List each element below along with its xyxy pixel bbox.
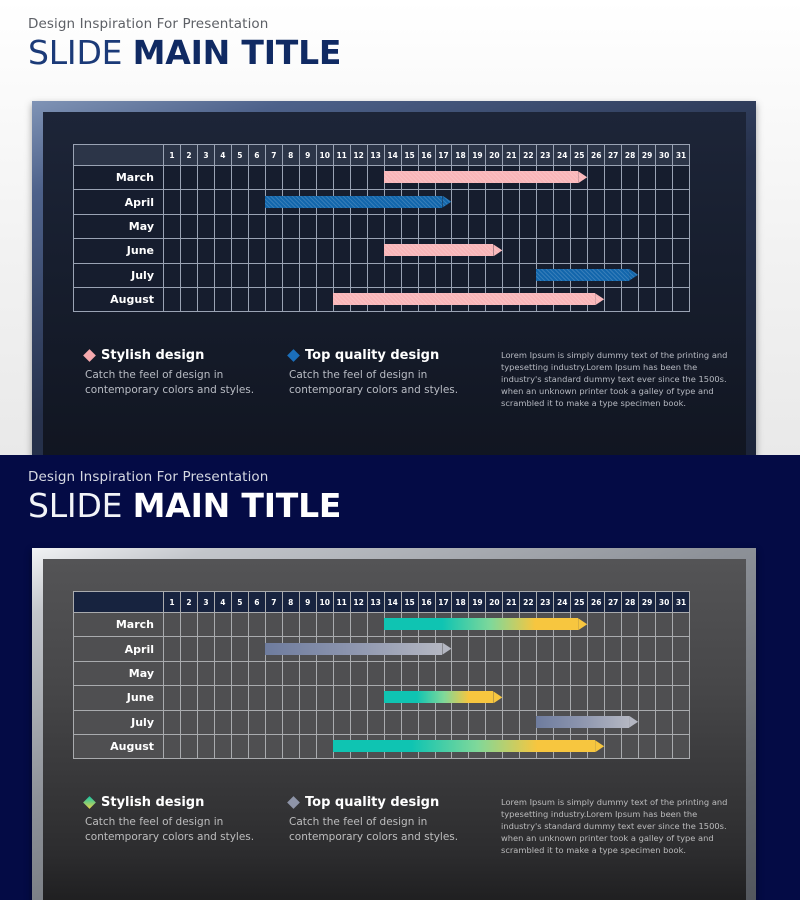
gantt-cell[interactable] — [418, 190, 435, 214]
gantt-cell[interactable] — [639, 637, 656, 661]
gantt-cell[interactable] — [554, 734, 571, 758]
gantt-cell[interactable] — [520, 710, 537, 734]
gantt-cell[interactable] — [299, 686, 316, 710]
gantt-cell[interactable] — [639, 239, 656, 263]
gantt-cell[interactable] — [350, 214, 367, 238]
gantt-cell[interactable] — [248, 166, 265, 190]
gantt-cell[interactable] — [265, 239, 282, 263]
gantt-cell[interactable] — [367, 263, 384, 287]
gantt-cell[interactable] — [418, 613, 435, 637]
gantt-cell[interactable] — [214, 287, 231, 311]
gantt-cell[interactable] — [282, 214, 299, 238]
gantt-cell[interactable] — [333, 734, 350, 758]
gantt-cell[interactable] — [180, 166, 197, 190]
gantt-cell[interactable] — [214, 239, 231, 263]
gantt-cell[interactable] — [197, 686, 214, 710]
gantt-cell[interactable] — [605, 263, 622, 287]
gantt-cell[interactable] — [639, 686, 656, 710]
gantt-cell[interactable] — [333, 214, 350, 238]
gantt-cell[interactable] — [197, 166, 214, 190]
gantt-cell[interactable] — [299, 613, 316, 637]
gantt-cell[interactable] — [333, 166, 350, 190]
gantt-cell[interactable] — [333, 661, 350, 685]
gantt-cell[interactable] — [452, 613, 469, 637]
gantt-cell[interactable] — [231, 287, 248, 311]
gantt-cell[interactable] — [316, 239, 333, 263]
gantt-cell[interactable] — [265, 190, 282, 214]
gantt-cell[interactable] — [656, 263, 673, 287]
gantt-cell[interactable] — [333, 190, 350, 214]
gantt-cell[interactable] — [486, 710, 503, 734]
gantt-cell[interactable] — [214, 613, 231, 637]
gantt-cell[interactable] — [231, 686, 248, 710]
gantt-cell[interactable] — [384, 661, 401, 685]
gantt-cell[interactable] — [435, 637, 452, 661]
gantt-cell[interactable] — [435, 239, 452, 263]
gantt-cell[interactable] — [164, 239, 181, 263]
gantt-cell[interactable] — [639, 661, 656, 685]
gantt-cell[interactable] — [520, 214, 537, 238]
gantt-cell[interactable] — [282, 190, 299, 214]
gantt-cell[interactable] — [333, 710, 350, 734]
gantt-cell[interactable] — [622, 263, 639, 287]
gantt-cell[interactable] — [350, 686, 367, 710]
gantt-cell[interactable] — [164, 637, 181, 661]
gantt-cell[interactable] — [367, 239, 384, 263]
gantt-cell[interactable] — [452, 263, 469, 287]
gantt-cell[interactable] — [537, 166, 554, 190]
gantt-cell[interactable] — [333, 613, 350, 637]
gantt-cell[interactable] — [673, 661, 690, 685]
gantt-cell[interactable] — [622, 734, 639, 758]
gantt-cell[interactable] — [605, 239, 622, 263]
gantt-cell[interactable] — [503, 166, 520, 190]
gantt-cell[interactable] — [537, 214, 554, 238]
gantt-cell[interactable] — [231, 239, 248, 263]
gantt-cell[interactable] — [384, 287, 401, 311]
gantt-cell[interactable] — [367, 661, 384, 685]
gantt-cell[interactable] — [164, 263, 181, 287]
gantt-cell[interactable] — [214, 734, 231, 758]
gantt-cell[interactable] — [350, 190, 367, 214]
gantt-cell[interactable] — [554, 637, 571, 661]
gantt-cell[interactable] — [350, 613, 367, 637]
gantt-cell[interactable] — [316, 613, 333, 637]
gantt-cell[interactable] — [418, 661, 435, 685]
gantt-cell[interactable] — [622, 287, 639, 311]
gantt-cell[interactable] — [180, 734, 197, 758]
gantt-cell[interactable] — [384, 190, 401, 214]
gantt-cell[interactable] — [571, 710, 588, 734]
gantt-cell[interactable] — [197, 239, 214, 263]
gantt-cell[interactable] — [503, 287, 520, 311]
gantt-cell[interactable] — [265, 166, 282, 190]
gantt-cell[interactable] — [537, 710, 554, 734]
gantt-cell[interactable] — [282, 287, 299, 311]
gantt-cell[interactable] — [588, 613, 605, 637]
gantt-cell[interactable] — [656, 214, 673, 238]
gantt-cell[interactable] — [503, 637, 520, 661]
gantt-cell[interactable] — [571, 686, 588, 710]
gantt-cell[interactable] — [231, 637, 248, 661]
gantt-cell[interactable] — [214, 166, 231, 190]
gantt-cell[interactable] — [588, 190, 605, 214]
feature-item-top-quality-design[interactable]: Top quality design Catch the feel of des… — [289, 348, 489, 398]
gantt-cell[interactable] — [452, 190, 469, 214]
gantt-cell[interactable] — [588, 166, 605, 190]
gantt-cell[interactable] — [401, 263, 418, 287]
gantt-cell[interactable] — [248, 214, 265, 238]
gantt-cell[interactable] — [486, 214, 503, 238]
gantt-cell[interactable] — [486, 263, 503, 287]
gantt-cell[interactable] — [469, 263, 486, 287]
gantt-cell[interactable] — [554, 166, 571, 190]
gantt-cell[interactable] — [282, 239, 299, 263]
gantt-cell[interactable] — [180, 190, 197, 214]
gantt-cell[interactable] — [486, 734, 503, 758]
gantt-cell[interactable] — [588, 637, 605, 661]
gantt-cell[interactable] — [639, 214, 656, 238]
gantt-cell[interactable] — [503, 710, 520, 734]
gantt-cell[interactable] — [231, 734, 248, 758]
gantt-cell[interactable] — [605, 734, 622, 758]
gantt-cell[interactable] — [333, 263, 350, 287]
feature-item-stylish-design[interactable]: Stylish design Catch the feel of design … — [85, 348, 285, 398]
gantt-cell[interactable] — [282, 637, 299, 661]
gantt-cell[interactable] — [537, 263, 554, 287]
gantt-cell[interactable] — [401, 734, 418, 758]
gantt-cell[interactable] — [180, 710, 197, 734]
gantt-cell[interactable] — [520, 734, 537, 758]
gantt-cell[interactable] — [164, 214, 181, 238]
gantt-cell[interactable] — [350, 734, 367, 758]
gantt-cell[interactable] — [418, 287, 435, 311]
gantt-cell[interactable] — [588, 287, 605, 311]
gantt-cell[interactable] — [316, 734, 333, 758]
gantt-cell[interactable] — [316, 686, 333, 710]
gantt-cell[interactable] — [197, 710, 214, 734]
gantt-cell[interactable] — [316, 166, 333, 190]
gantt-cell[interactable] — [656, 613, 673, 637]
gantt-cell[interactable] — [435, 710, 452, 734]
gantt-cell[interactable] — [197, 263, 214, 287]
gantt-cell[interactable] — [588, 214, 605, 238]
gantt-cell[interactable] — [214, 190, 231, 214]
gantt-cell[interactable] — [537, 239, 554, 263]
gantt-cell[interactable] — [299, 190, 316, 214]
gantt-cell[interactable] — [605, 661, 622, 685]
gantt-cell[interactable] — [248, 734, 265, 758]
gantt-cell[interactable] — [333, 686, 350, 710]
gantt-cell[interactable] — [673, 166, 690, 190]
gantt-cell[interactable] — [384, 686, 401, 710]
gantt-cell[interactable] — [469, 734, 486, 758]
gantt-cell[interactable] — [622, 214, 639, 238]
gantt-cell[interactable] — [435, 661, 452, 685]
gantt-cell[interactable] — [520, 637, 537, 661]
gantt-cell[interactable] — [571, 239, 588, 263]
gantt-cell[interactable] — [299, 637, 316, 661]
gantt-cell[interactable] — [503, 263, 520, 287]
gantt-cell[interactable] — [588, 661, 605, 685]
gantt-cell[interactable] — [197, 637, 214, 661]
gantt-cell[interactable] — [214, 637, 231, 661]
gantt-cell[interactable] — [622, 661, 639, 685]
gantt-cell[interactable] — [469, 190, 486, 214]
gantt-cell[interactable] — [486, 287, 503, 311]
gantt-cell[interactable] — [503, 239, 520, 263]
gantt-cell[interactable] — [435, 190, 452, 214]
gantt-cell[interactable] — [231, 661, 248, 685]
gantt-cell[interactable] — [537, 190, 554, 214]
gantt-cell[interactable] — [231, 263, 248, 287]
gantt-cell[interactable] — [656, 710, 673, 734]
gantt-cell[interactable] — [316, 190, 333, 214]
gantt-cell[interactable] — [605, 166, 622, 190]
gantt-cell[interactable] — [588, 239, 605, 263]
gantt-cell[interactable] — [282, 661, 299, 685]
gantt-cell[interactable] — [673, 686, 690, 710]
gantt-cell[interactable] — [180, 287, 197, 311]
gantt-cell[interactable] — [333, 239, 350, 263]
gantt-cell[interactable] — [418, 214, 435, 238]
gantt-cell[interactable] — [537, 637, 554, 661]
gantt-cell[interactable] — [520, 190, 537, 214]
gantt-cell[interactable] — [164, 686, 181, 710]
gantt-cell[interactable] — [248, 263, 265, 287]
gantt-cell[interactable] — [367, 710, 384, 734]
gantt-cell[interactable] — [656, 637, 673, 661]
gantt-cell[interactable] — [316, 710, 333, 734]
gantt-cell[interactable] — [384, 239, 401, 263]
gantt-cell[interactable] — [265, 661, 282, 685]
gantt-cell[interactable] — [367, 734, 384, 758]
gantt-cell[interactable] — [248, 287, 265, 311]
gantt-cell[interactable] — [367, 214, 384, 238]
gantt-cell[interactable] — [248, 686, 265, 710]
gantt-cell[interactable] — [214, 710, 231, 734]
gantt-cell[interactable] — [673, 287, 690, 311]
gantt-cell[interactable] — [350, 637, 367, 661]
gantt-cell[interactable] — [656, 661, 673, 685]
gantt-cell[interactable] — [299, 661, 316, 685]
gantt-cell[interactable] — [622, 710, 639, 734]
gantt-cell[interactable] — [316, 637, 333, 661]
gantt-cell[interactable] — [316, 661, 333, 685]
gantt-cell[interactable] — [537, 734, 554, 758]
gantt-cell[interactable] — [673, 214, 690, 238]
gantt-cell[interactable] — [639, 166, 656, 190]
gantt-cell[interactable] — [367, 166, 384, 190]
gantt-cell[interactable] — [231, 214, 248, 238]
gantt-cell[interactable] — [503, 661, 520, 685]
gantt-cell[interactable] — [469, 287, 486, 311]
gantt-cell[interactable] — [452, 166, 469, 190]
gantt-cell[interactable] — [537, 613, 554, 637]
feature-item-stylish-design[interactable]: Stylish design Catch the feel of design … — [85, 795, 285, 845]
gantt-cell[interactable] — [639, 263, 656, 287]
gantt-cell[interactable] — [401, 166, 418, 190]
gantt-cell[interactable] — [316, 263, 333, 287]
gantt-cell[interactable] — [639, 710, 656, 734]
gantt-cell[interactable] — [248, 190, 265, 214]
gantt-cell[interactable] — [164, 613, 181, 637]
gantt-cell[interactable] — [401, 190, 418, 214]
gantt-cell[interactable] — [299, 734, 316, 758]
gantt-cell[interactable] — [418, 263, 435, 287]
gantt-cell[interactable] — [469, 637, 486, 661]
gantt-cell[interactable] — [520, 613, 537, 637]
gantt-cell[interactable] — [384, 263, 401, 287]
gantt-cell[interactable] — [571, 166, 588, 190]
gantt-cell[interactable] — [605, 190, 622, 214]
gantt-cell[interactable] — [588, 734, 605, 758]
gantt-cell[interactable] — [197, 287, 214, 311]
gantt-cell[interactable] — [673, 734, 690, 758]
gantt-cell[interactable] — [299, 287, 316, 311]
gantt-cell[interactable] — [265, 214, 282, 238]
gantt-cell[interactable] — [503, 214, 520, 238]
gantt-cell[interactable] — [656, 734, 673, 758]
gantt-cell[interactable] — [639, 287, 656, 311]
gantt-cell[interactable] — [469, 661, 486, 685]
gantt-cell[interactable] — [214, 661, 231, 685]
gantt-cell[interactable] — [469, 214, 486, 238]
gantt-cell[interactable] — [435, 686, 452, 710]
gantt-cell[interactable] — [299, 263, 316, 287]
gantt-cell[interactable] — [299, 166, 316, 190]
gantt-cell[interactable] — [384, 710, 401, 734]
gantt-cell[interactable] — [639, 190, 656, 214]
gantt-cell[interactable] — [554, 239, 571, 263]
gantt-cell[interactable] — [571, 613, 588, 637]
gantt-cell[interactable] — [520, 287, 537, 311]
gantt-cell[interactable] — [164, 734, 181, 758]
gantt-cell[interactable] — [265, 734, 282, 758]
gantt-cell[interactable] — [588, 686, 605, 710]
gantt-cell[interactable] — [367, 287, 384, 311]
gantt-cell[interactable] — [673, 263, 690, 287]
gantt-cell[interactable] — [622, 613, 639, 637]
gantt-cell[interactable] — [673, 190, 690, 214]
gantt-cell[interactable] — [231, 710, 248, 734]
gantt-cell[interactable] — [571, 190, 588, 214]
gantt-cell[interactable] — [164, 166, 181, 190]
gantt-cell[interactable] — [164, 287, 181, 311]
gantt-cell[interactable] — [452, 239, 469, 263]
gantt-cell[interactable] — [503, 613, 520, 637]
gantt-cell[interactable] — [418, 710, 435, 734]
gantt-cell[interactable] — [180, 239, 197, 263]
gantt-cell[interactable] — [197, 734, 214, 758]
gantt-cell[interactable] — [231, 190, 248, 214]
gantt-cell[interactable] — [639, 613, 656, 637]
gantt-cell[interactable] — [554, 613, 571, 637]
gantt-cell[interactable] — [214, 263, 231, 287]
gantt-cell[interactable] — [265, 710, 282, 734]
gantt-cell[interactable] — [299, 710, 316, 734]
gantt-cell[interactable] — [486, 637, 503, 661]
gantt-cell[interactable] — [401, 239, 418, 263]
gantt-cell[interactable] — [350, 166, 367, 190]
gantt-cell[interactable] — [554, 190, 571, 214]
gantt-cell[interactable] — [520, 686, 537, 710]
gantt-cell[interactable] — [673, 613, 690, 637]
gantt-cell[interactable] — [656, 239, 673, 263]
gantt-cell[interactable] — [452, 637, 469, 661]
gantt-cell[interactable] — [571, 661, 588, 685]
gantt-cell[interactable] — [316, 214, 333, 238]
gantt-cell[interactable] — [384, 214, 401, 238]
gantt-cell[interactable] — [248, 661, 265, 685]
gantt-cell[interactable] — [248, 613, 265, 637]
gantt-cell[interactable] — [350, 661, 367, 685]
gantt-cell[interactable] — [299, 239, 316, 263]
gantt-cell[interactable] — [197, 190, 214, 214]
gantt-cell[interactable] — [639, 734, 656, 758]
gantt-cell[interactable] — [282, 613, 299, 637]
gantt-cell[interactable] — [571, 734, 588, 758]
gantt-cell[interactable] — [333, 287, 350, 311]
gantt-cell[interactable] — [265, 287, 282, 311]
gantt-cell[interactable] — [350, 263, 367, 287]
gantt-cell[interactable] — [401, 686, 418, 710]
gantt-cell[interactable] — [520, 661, 537, 685]
gantt-cell[interactable] — [265, 613, 282, 637]
gantt-cell[interactable] — [384, 637, 401, 661]
gantt-cell[interactable] — [435, 287, 452, 311]
gantt-cell[interactable] — [673, 239, 690, 263]
gantt-cell[interactable] — [622, 166, 639, 190]
gantt-cell[interactable] — [418, 637, 435, 661]
gantt-cell[interactable] — [554, 214, 571, 238]
gantt-cell[interactable] — [435, 166, 452, 190]
gantt-cell[interactable] — [265, 686, 282, 710]
gantt-cell[interactable] — [401, 661, 418, 685]
gantt-cell[interactable] — [571, 287, 588, 311]
gantt-cell[interactable] — [265, 263, 282, 287]
gantt-cell[interactable] — [180, 637, 197, 661]
gantt-cell[interactable] — [248, 637, 265, 661]
gantt-cell[interactable] — [384, 734, 401, 758]
gantt-cell[interactable] — [197, 661, 214, 685]
gantt-cell[interactable] — [401, 287, 418, 311]
gantt-cell[interactable] — [367, 637, 384, 661]
gantt-cell[interactable] — [605, 710, 622, 734]
gantt-cell[interactable] — [452, 734, 469, 758]
gantt-cell[interactable] — [622, 637, 639, 661]
gantt-cell[interactable] — [486, 661, 503, 685]
gantt-cell[interactable] — [452, 710, 469, 734]
gantt-cell[interactable] — [350, 239, 367, 263]
gantt-cell[interactable] — [282, 710, 299, 734]
gantt-cell[interactable] — [384, 613, 401, 637]
gantt-cell[interactable] — [333, 637, 350, 661]
gantt-cell[interactable] — [180, 214, 197, 238]
gantt-cell[interactable] — [367, 613, 384, 637]
gantt-cell[interactable] — [622, 239, 639, 263]
gantt-cell[interactable] — [571, 637, 588, 661]
gantt-cell[interactable] — [486, 166, 503, 190]
gantt-cell[interactable] — [265, 637, 282, 661]
gantt-cell[interactable] — [520, 166, 537, 190]
gantt-cell[interactable] — [248, 710, 265, 734]
gantt-cell[interactable] — [197, 214, 214, 238]
gantt-cell[interactable] — [605, 287, 622, 311]
gantt-cell[interactable] — [452, 686, 469, 710]
gantt-cell[interactable] — [588, 710, 605, 734]
gantt-cell[interactable] — [401, 637, 418, 661]
